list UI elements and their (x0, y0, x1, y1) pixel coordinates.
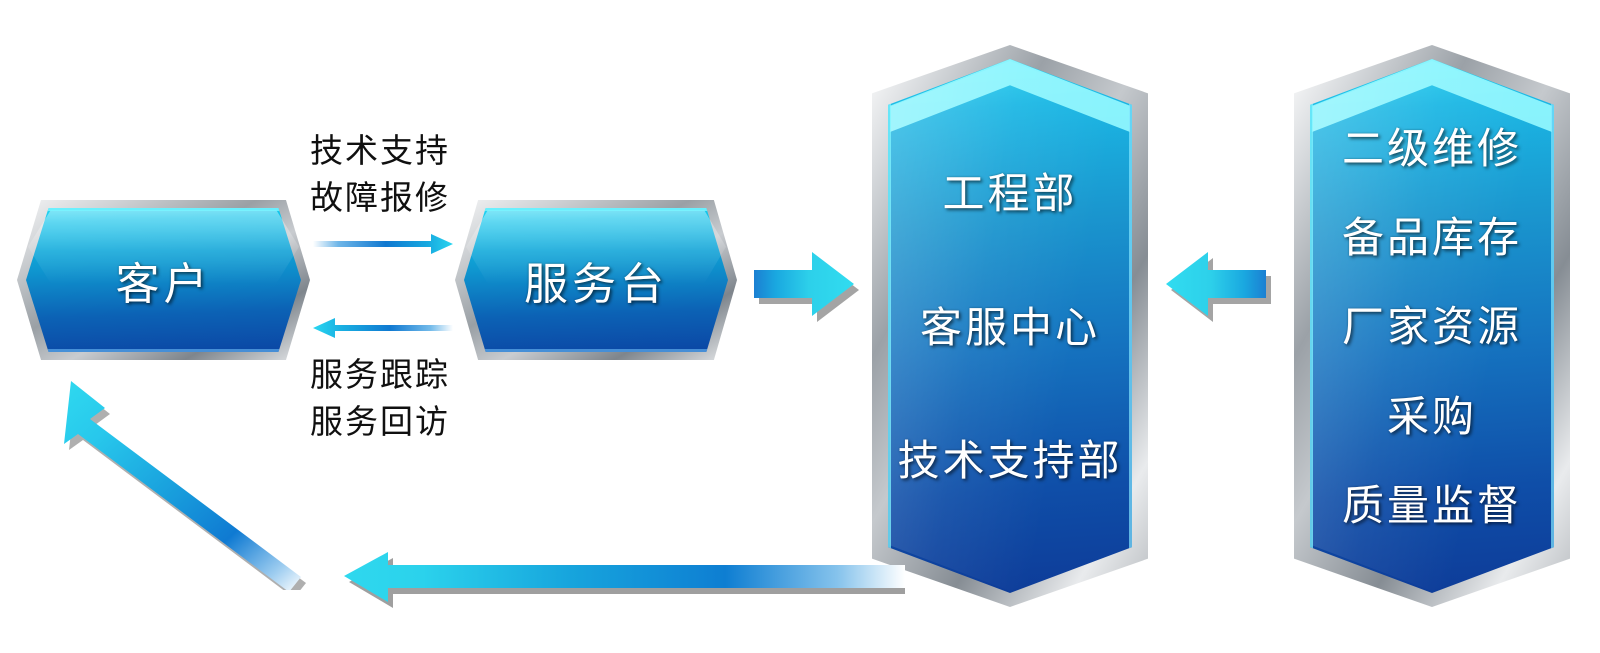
support-resources-line-3: 厂家资源 (1342, 293, 1522, 354)
support-resources-lines: 二级维修 备品库存 厂家资源 采购 质量监督 (1294, 45, 1570, 607)
arrow-center-return (340, 552, 905, 614)
flow-note-to-desk: 技术支持 故障报修 (300, 128, 460, 222)
support-resources-line-1: 二级维修 (1342, 115, 1522, 176)
service-center-line-3: 技术支持部 (897, 427, 1122, 488)
arrow-customer-to-desk (313, 231, 453, 257)
node-service-desk[interactable]: 服务台 (455, 200, 737, 360)
diagram-canvas: 客户 服务台 工程部 客服中心 技术支持部 二级维修 备品库存 厂家资源 采购 (0, 0, 1600, 653)
support-resources-line-2: 备品库存 (1342, 204, 1522, 265)
service-center-line-2: 客服中心 (920, 294, 1100, 355)
arrow-desk-to-center (748, 246, 860, 324)
flow-note-to-desk-line-2: 故障报修 (300, 175, 460, 222)
node-customer[interactable]: 客户 (17, 200, 310, 360)
node-support-resources[interactable]: 二级维修 备品库存 厂家资源 采购 质量监督 (1294, 45, 1570, 607)
arrow-support-to-center (1160, 246, 1272, 324)
service-center-line-1: 工程部 (942, 160, 1077, 221)
support-resources-line-5: 质量监督 (1342, 472, 1522, 533)
support-resources-line-4: 采购 (1387, 383, 1477, 444)
flow-note-to-desk-line-1: 技术支持 (300, 128, 460, 175)
node-customer-label: 客户 (17, 200, 310, 360)
node-service-center[interactable]: 工程部 客服中心 技术支持部 (872, 45, 1148, 607)
node-service-desk-label: 服务台 (455, 200, 737, 360)
arrow-desk-to-customer (313, 315, 453, 341)
arrow-return-to-customer (58, 375, 328, 590)
service-center-lines: 工程部 客服中心 技术支持部 (872, 45, 1148, 607)
